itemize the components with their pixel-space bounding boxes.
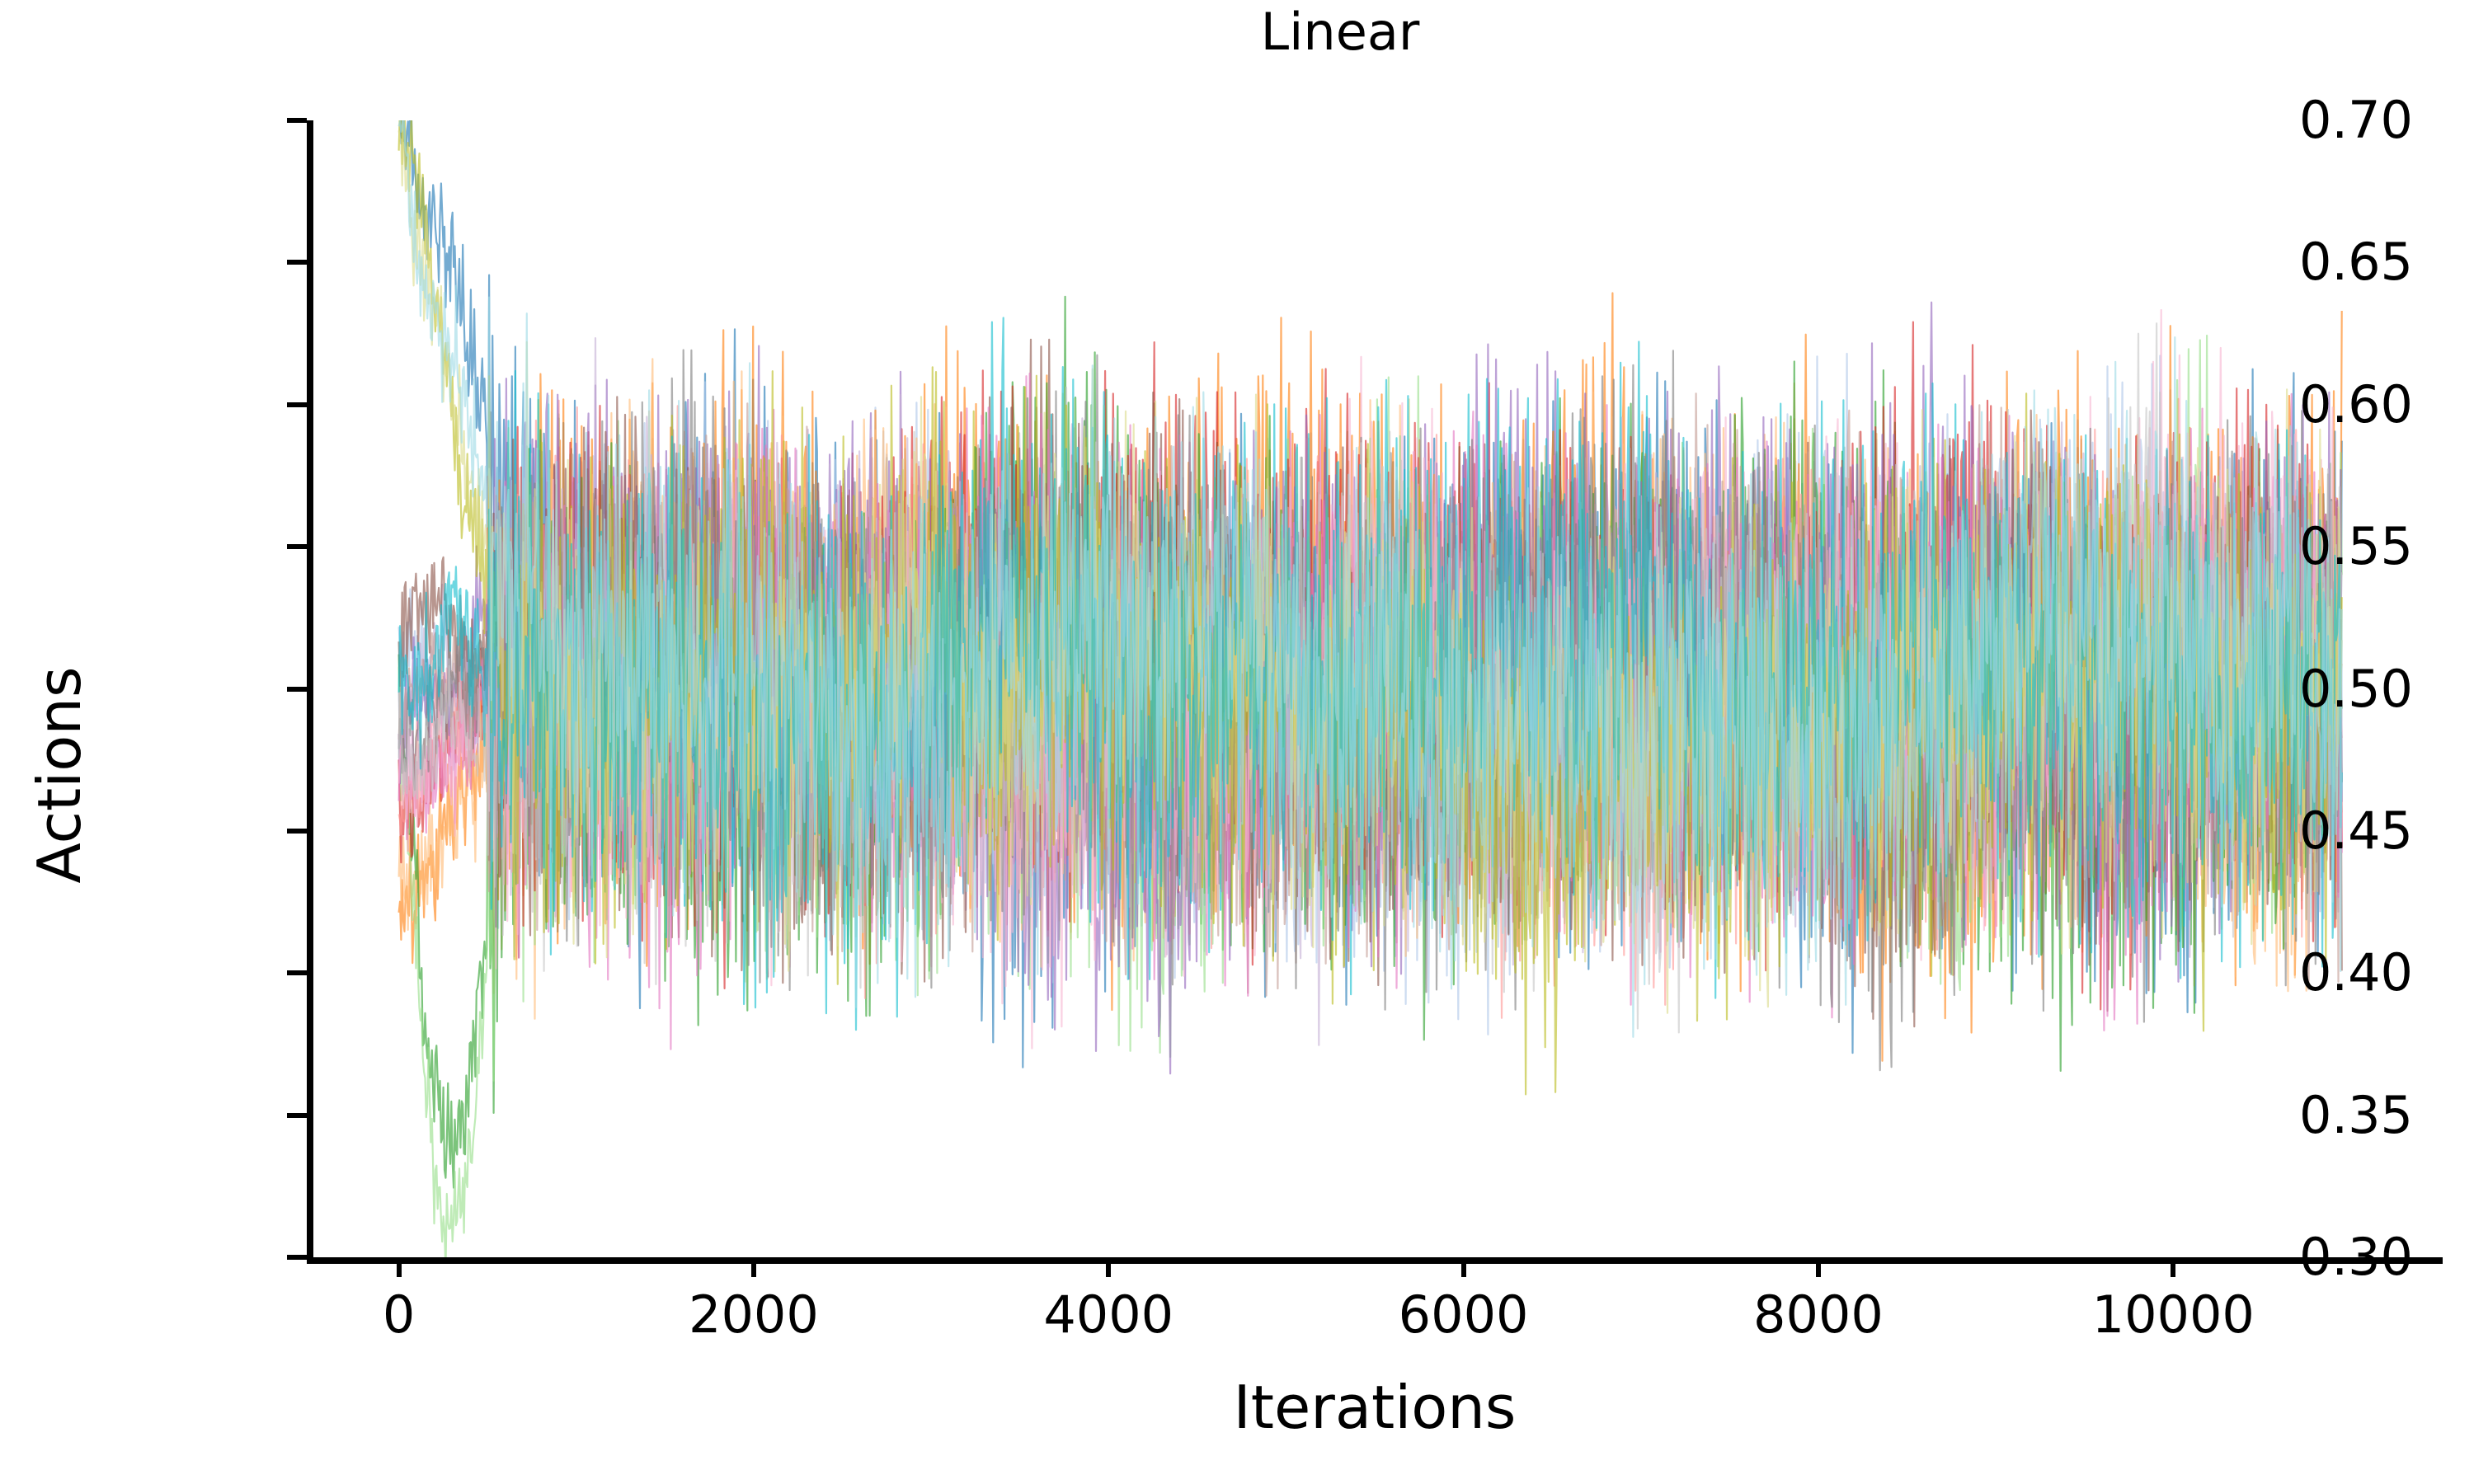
y-tick-0.40	[287, 970, 307, 975]
y-axis-label: Actions	[0, 0, 69, 1484]
y-tick-0.30	[287, 1255, 307, 1260]
x-tick-8000	[1816, 1257, 1821, 1277]
chart-title-text: Linear	[1261, 2, 1420, 62]
x-tick-label-4000: 4000	[902, 1289, 1315, 1341]
y-tick-0.65	[287, 260, 307, 265]
y-axis-label-text: Actions	[25, 667, 94, 884]
y-tick-label-0.70: 0.70	[2141, 95, 2413, 146]
chart-figure: Linear Actions Iterations 0.300.350.400.…	[0, 0, 2474, 1484]
y-tick-0.70	[287, 118, 307, 123]
y-tick-label-0.60: 0.60	[2141, 379, 2413, 430]
y-tick-label-0.50: 0.50	[2141, 664, 2413, 715]
y-tick-label-0.35: 0.35	[2141, 1090, 2413, 1141]
x-axis-label-text: Iterations	[1234, 1373, 1517, 1442]
x-tick-2000	[751, 1257, 756, 1277]
y-tick-label-0.40: 0.40	[2141, 947, 2413, 998]
x-tick-label-8000: 8000	[1612, 1289, 2025, 1341]
x-tick-label-2000: 2000	[548, 1289, 960, 1341]
plot-area	[310, 120, 2439, 1257]
y-tick-label-0.45: 0.45	[2141, 805, 2413, 857]
y-tick-label-0.55: 0.55	[2141, 521, 2413, 572]
y-tick-0.50	[287, 687, 307, 692]
y-tick-0.60	[287, 402, 307, 407]
x-tick-10000	[2171, 1257, 2175, 1277]
y-tick-0.35	[287, 1113, 307, 1118]
x-tick-0	[397, 1257, 402, 1277]
series-lines	[310, 120, 2439, 1257]
x-tick-6000	[1461, 1257, 1466, 1277]
y-tick-0.45	[287, 829, 307, 834]
y-tick-label-0.65: 0.65	[2141, 237, 2413, 288]
plot-axes: 0.300.350.400.450.500.550.600.650.70 020…	[310, 120, 2439, 1257]
x-tick-label-10000: 10000	[1967, 1289, 2379, 1341]
chart-title: Linear	[0, 7, 2474, 58]
x-axis-spine	[307, 1257, 2443, 1264]
x-tick-label-6000: 6000	[1258, 1289, 1670, 1341]
y-tick-label-0.30: 0.30	[2141, 1232, 2413, 1283]
x-axis-label: Iterations	[310, 1373, 2439, 1442]
y-tick-0.55	[287, 544, 307, 549]
x-tick-4000	[1106, 1257, 1111, 1277]
y-axis-spine	[307, 120, 313, 1261]
x-tick-label-0: 0	[193, 1289, 605, 1341]
